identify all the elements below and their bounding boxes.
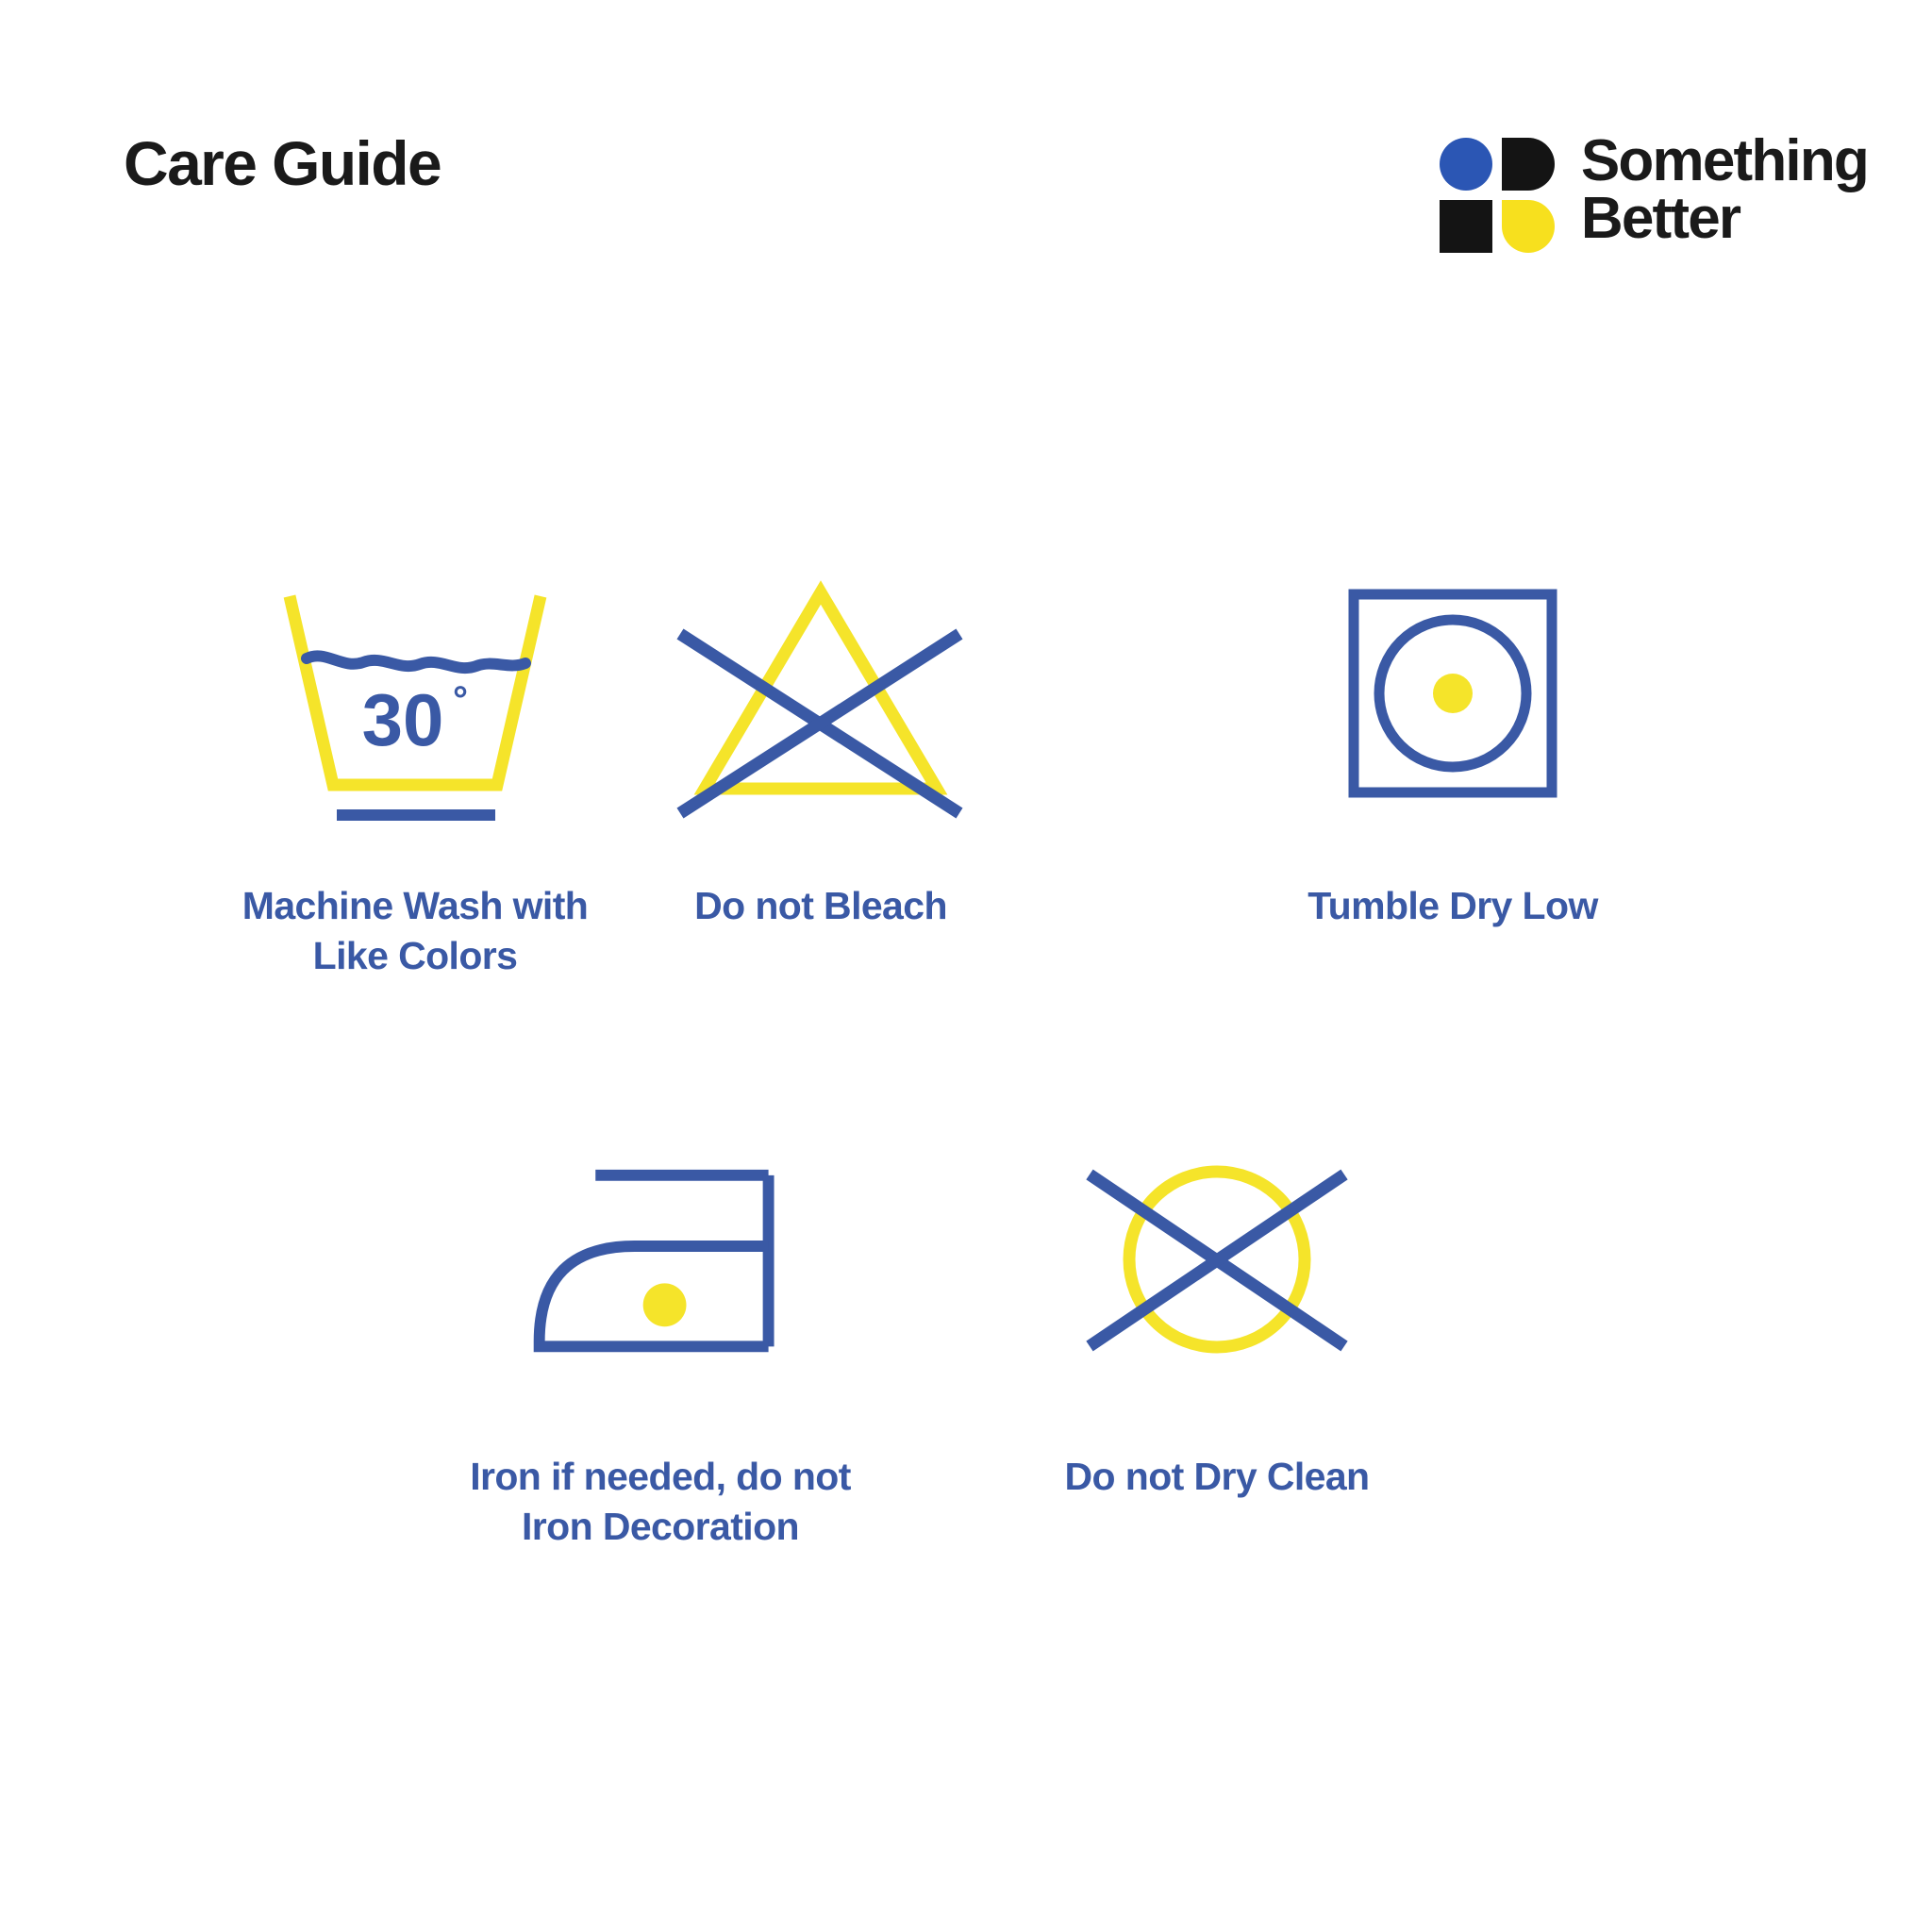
care-symbol-caption: Do not Dry Clean — [972, 1452, 1462, 1502]
wash-temperature-degree: ° — [453, 679, 468, 721]
care-symbol-grid: 30 ° Machine Wash with Like Colors Do no… — [0, 0, 1932, 1932]
iron-icon-box — [505, 1146, 816, 1429]
care-guide-page: Care Guide Something Better — [0, 0, 1932, 1932]
care-symbol-caption: Tumble Dry Low — [1217, 881, 1689, 931]
care-symbol-machine-wash: 30 ° Machine Wash with Like Colors — [193, 575, 637, 982]
care-symbol-do-not-bleach: Do not Bleach — [618, 575, 1024, 931]
care-symbol-tumble-dry-low: Tumble Dry Low — [1217, 575, 1689, 931]
care-symbol-caption: Machine Wash with Like Colors — [193, 881, 637, 982]
care-symbol-caption: Iron if needed, do not Iron Decoration — [396, 1452, 924, 1553]
dry-clean-icon-box — [1061, 1146, 1373, 1429]
care-symbol-caption: Do not Bleach — [618, 881, 1024, 931]
iron-icon — [505, 1146, 816, 1429]
dry-clean-circle-crossed-icon — [1061, 1146, 1373, 1429]
wash-temperature-value: 30 — [362, 678, 444, 761]
wash-basin-icon-box: 30 ° — [259, 575, 571, 858]
tumble-dry-square-icon — [1297, 575, 1608, 858]
wash-basin-icon: 30 ° — [259, 575, 571, 858]
bleach-icon-box — [665, 575, 976, 858]
tumble-dry-icon-box — [1297, 575, 1608, 858]
bleach-triangle-crossed-icon — [665, 575, 976, 858]
care-symbol-iron: Iron if needed, do not Iron Decoration — [396, 1146, 924, 1553]
care-symbol-do-not-dry-clean: Do not Dry Clean — [972, 1146, 1462, 1502]
